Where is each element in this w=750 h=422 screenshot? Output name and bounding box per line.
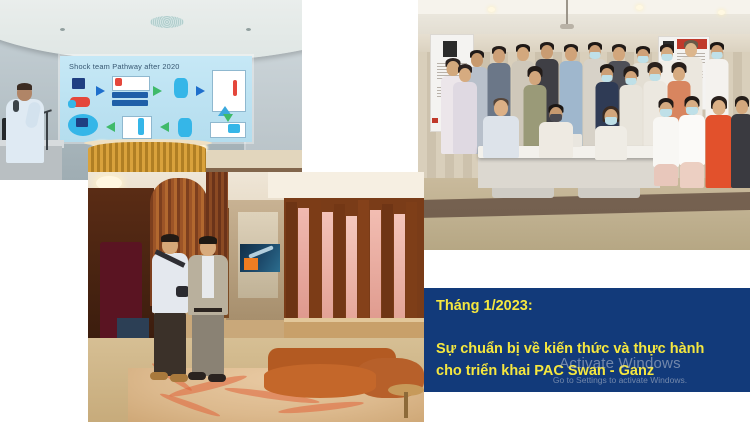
seated-panelist: [540, 104, 572, 156]
man-right-legs: [192, 312, 224, 376]
pendant-fixture: [560, 24, 574, 29]
man-left-hair: [161, 234, 179, 242]
slide-arrow-right: [196, 86, 205, 96]
ceiling-downlight: [718, 10, 725, 15]
staff-member: [680, 96, 704, 188]
lobby-side-table-leg: [404, 392, 408, 418]
ceiling-downlight: [636, 5, 643, 10]
slide-icon-monitor: [72, 78, 85, 89]
man-right-shoe: [208, 374, 226, 382]
caption-date: Tháng 1/2023:: [436, 298, 533, 314]
slide-arrow-right: [153, 86, 162, 96]
pendant-cable: [566, 0, 568, 26]
ceiling-spot: [246, 28, 251, 31]
attendee: [454, 64, 476, 154]
caption-body-line-1: Sự chuẩn bị về kiến thức và thực hành: [436, 341, 704, 357]
banner-accent: [432, 118, 438, 123]
slide-icon-bottle: [138, 118, 144, 135]
slide-card: [122, 116, 152, 139]
head-table-front: [478, 158, 660, 188]
lobby-standee-kiosk: [100, 242, 142, 340]
man-right-belt: [194, 308, 222, 312]
slide-form-marker: [233, 80, 237, 96]
slide-title-text: Shock team Pathway after 2020: [69, 62, 180, 71]
lobby-ottoman: [264, 364, 376, 398]
group-photo: [418, 0, 750, 250]
lobby-ceiling-highlight: [268, 172, 424, 198]
man-left-shoe: [170, 374, 188, 382]
slide-canvas: Shock team Pathway after 2020: [0, 0, 750, 422]
caption-box: Tháng 1/2023: Sự chuẩn bị về kiến thức v…: [424, 288, 750, 392]
lecture-hall-photo: Shock team Pathway after 2020: [0, 0, 302, 180]
slide-icon-person: [178, 118, 192, 137]
man-right-shirt: [202, 256, 214, 298]
hotel-lobby-photo: [88, 172, 424, 422]
slide-icon-chart: [228, 124, 240, 133]
slide-arrow-down: [223, 114, 233, 122]
slide-arrow-left: [106, 122, 115, 132]
handheld-microphone: [13, 100, 19, 112]
slide-icon-person: [174, 78, 188, 98]
slide-label-bar: [112, 100, 148, 106]
projected-slide: Shock team Pathway after 2020: [60, 56, 252, 142]
slide-icon-device: [76, 118, 88, 127]
attendee-red-dress: [706, 96, 732, 188]
projector-screen: Shock team Pathway after 2020: [60, 56, 252, 142]
attendee: [732, 96, 750, 188]
seated-panelist: [596, 106, 626, 156]
ceiling-vent-icon: [150, 16, 184, 28]
caption-body-line-2: cho triển khai PAC Swan - Ganz: [436, 363, 654, 379]
room-ceiling-upper: [418, 0, 750, 14]
staff-member: [654, 98, 678, 186]
slide-arrow-right: [96, 86, 105, 96]
seated-panelist: [484, 98, 518, 156]
slide-icon-dot: [68, 100, 76, 108]
slide-arrow-left: [160, 122, 169, 132]
slide-icon-badge: [115, 78, 122, 86]
slide-label-bar: [112, 92, 148, 98]
speaker-hair: [17, 83, 32, 90]
man-left-legs: [154, 312, 186, 376]
mic-stand: [46, 112, 48, 150]
ceiling-downlight: [488, 7, 495, 12]
man-right-hair: [199, 236, 217, 244]
lobby-orange-box: [244, 258, 258, 270]
man-left-shoe: [150, 372, 168, 380]
man-right-shoe: [188, 372, 206, 380]
ceiling-spot: [60, 28, 65, 31]
